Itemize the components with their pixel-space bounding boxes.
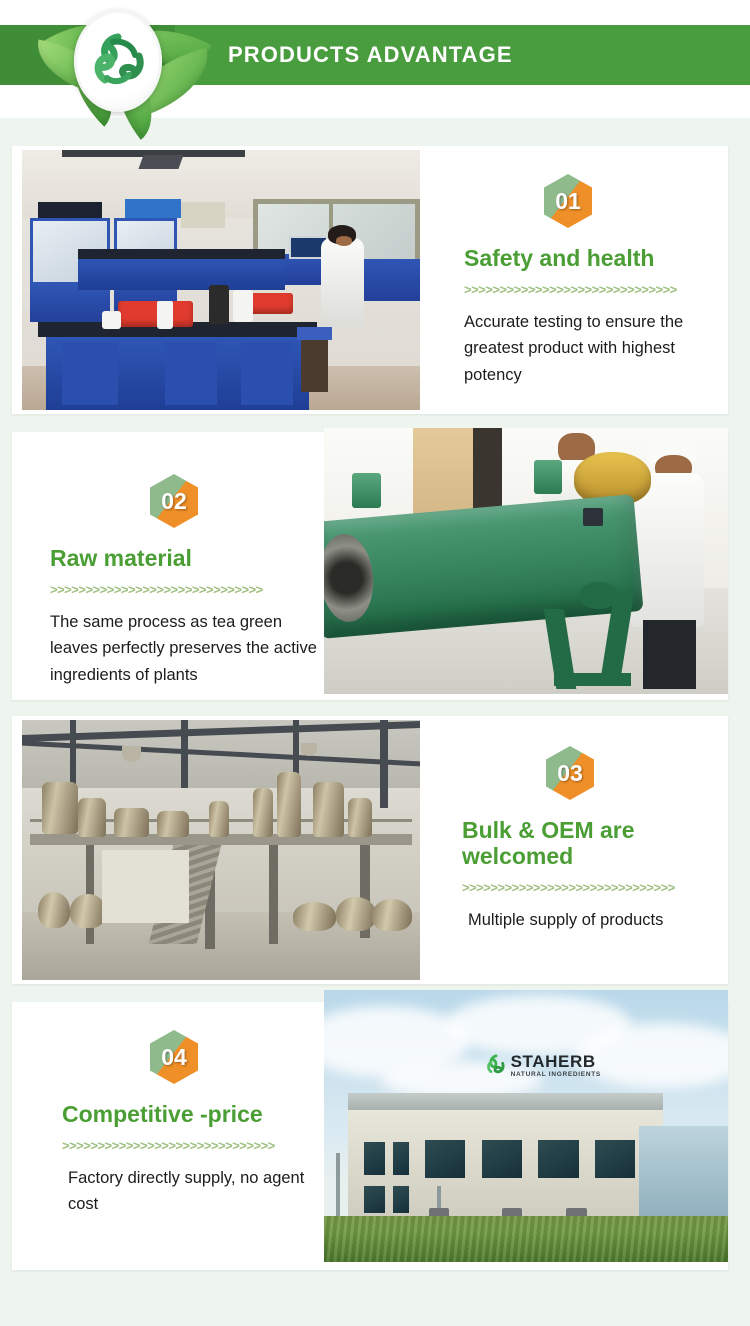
products-advantage-page: PRODUCTS ADVANTAGE — [0, 0, 750, 1326]
advantage-body: Factory directly supply, no agent cost — [68, 1165, 318, 1218]
advantage-card: 04 Competitive -price >>>>>>>>>>>>>>>>>>… — [12, 1002, 728, 1270]
badge-number: 03 — [542, 742, 728, 804]
advantage-body: The same process as tea green leaves per… — [50, 609, 332, 689]
building-rooftop-sign: STAHERB NATURAL INGREDIENTS — [486, 1053, 601, 1079]
chevron-divider-icon: >>>>>>>>>>>>>>>>>>>>>>>>>>>>>> — [62, 1138, 332, 1156]
advantage-card-text: 04 Competitive -price >>>>>>>>>>>>>>>>>>… — [36, 1002, 332, 1270]
advantage-heading: Raw material — [50, 546, 332, 572]
advantage-heading: Bulk & OEM are welcomed — [462, 818, 712, 870]
badge-number-label: 01 — [540, 170, 596, 232]
badge-number-label: 04 — [146, 1026, 202, 1088]
staherb-leaf-logo — [18, 2, 218, 118]
page-header: PRODUCTS ADVANTAGE — [0, 0, 750, 118]
badge-number: 04 — [146, 1026, 332, 1088]
chevron-divider-icon: >>>>>>>>>>>>>>>>>>>>>>>>>>>>>> — [462, 880, 728, 898]
badge-number-label: 02 — [146, 470, 202, 532]
staherb-logo-icon — [486, 1054, 506, 1076]
advantage-body: Accurate testing to ensure the greatest … — [464, 309, 726, 389]
advantage-card: 01 Safety and health >>>>>>>>>>>>>>>>>>>… — [12, 146, 728, 414]
advantage-card-text: 03 Bulk & OEM are welcomed >>>>>>>>>>>>>… — [432, 716, 728, 984]
advantage-body: Multiple supply of products — [468, 907, 718, 934]
advantage-heading: Safety and health — [464, 246, 728, 272]
logo-swirl-icon — [87, 30, 149, 92]
page-title: PRODUCTS ADVANTAGE — [228, 25, 513, 85]
advantage-card: 02 Raw material >>>>>>>>>>>>>>>>>>>>>>>>… — [12, 432, 728, 700]
advantage-card: 03 Bulk & OEM are welcomed >>>>>>>>>>>>>… — [12, 716, 728, 984]
sign-sub-text: NATURAL INGREDIENTS — [511, 1072, 601, 1079]
badge-number-label: 03 — [542, 742, 598, 804]
chevron-divider-icon: >>>>>>>>>>>>>>>>>>>>>>>>>>>>>> — [50, 582, 332, 600]
advantage-heading: Competitive -price — [62, 1102, 332, 1128]
logo-disc — [74, 10, 162, 112]
staherb-factory-building-photo: STAHERB NATURAL INGREDIENTS — [324, 990, 728, 1262]
laboratory-testing-photo — [22, 150, 420, 410]
chevron-divider-icon: >>>>>>>>>>>>>>>>>>>>>>>>>>>>>> — [464, 282, 728, 300]
extraction-plant-interior-photo — [22, 720, 420, 980]
badge-number: 01 — [540, 170, 728, 232]
green-roasting-machine-photo — [324, 428, 728, 694]
advantage-card-text: 01 Safety and health >>>>>>>>>>>>>>>>>>>… — [432, 146, 728, 414]
sign-main-text: STAHERB — [511, 1053, 601, 1070]
badge-number: 02 — [146, 470, 332, 532]
advantage-card-text: 02 Raw material >>>>>>>>>>>>>>>>>>>>>>>>… — [36, 432, 332, 700]
